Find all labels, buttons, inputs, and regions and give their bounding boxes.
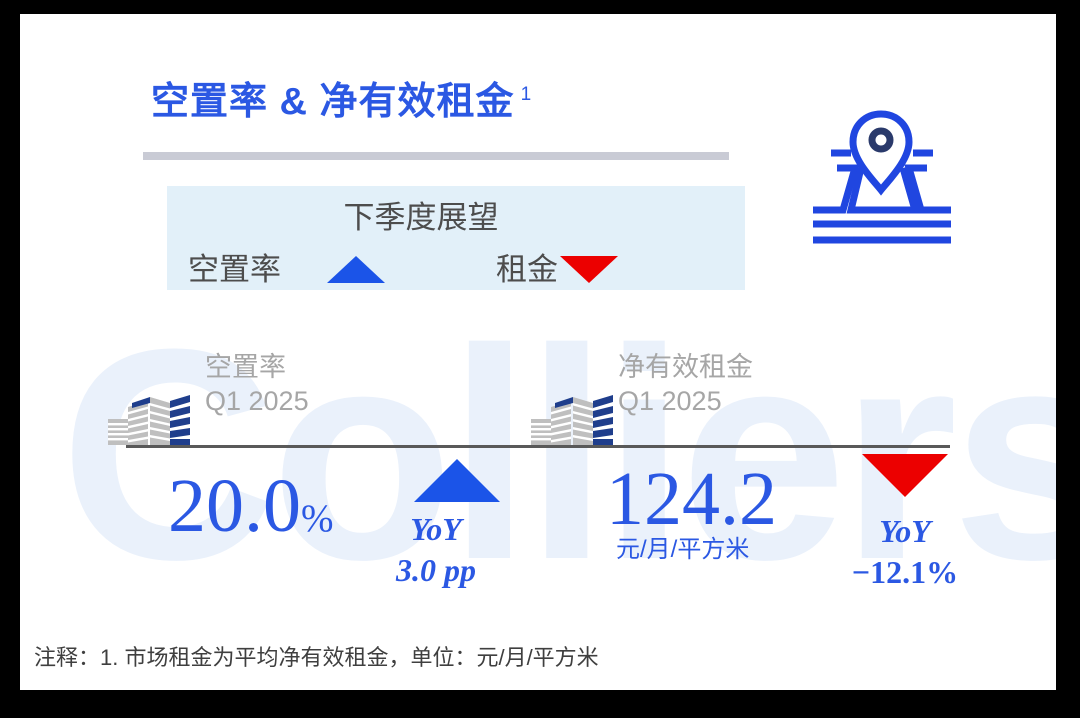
page-title: 空置率 & 净有效租金1 — [151, 70, 532, 125]
metric-change-rent: YoY −12.1% — [840, 511, 970, 593]
metric-value-number: 20.0 — [168, 464, 301, 548]
building-icon — [529, 383, 615, 447]
metric-change-label: YoY — [377, 509, 495, 550]
metric-caption-vacancy: 空置率 Q1 2025 — [205, 350, 309, 418]
outlook-item-label-rent: 租金 — [496, 244, 558, 289]
footnote: 注释：1. 市场租金为平均净有效租金，单位：元/月/平方米 — [34, 640, 599, 672]
metric-unit-rent: 元/月/平方米 — [616, 529, 749, 564]
triangle-up-icon — [327, 256, 385, 283]
metric-caption-line1: 净有效租金 — [618, 350, 753, 384]
page-title-footnote-marker: 1 — [521, 84, 533, 105]
title-divider — [143, 152, 729, 160]
metric-change-value: 3.0 pp — [377, 550, 495, 591]
building-icon — [106, 383, 192, 447]
metric-value-percent-sign: % — [301, 497, 334, 540]
outlook-items-row: 空置率 租金 — [167, 242, 745, 290]
metric-caption-line1: 空置率 — [205, 350, 309, 384]
metric-change-vacancy: YoY 3.0 pp — [377, 509, 495, 591]
page-title-text: 空置率 & 净有效租金 — [151, 81, 515, 123]
triangle-down-icon — [560, 256, 618, 283]
metric-caption-rent: 净有效租金 Q1 2025 — [618, 350, 753, 418]
metric-value-vacancy: 20.0% — [168, 466, 334, 559]
map-pin-icon — [803, 106, 963, 258]
triangle-up-icon — [414, 459, 500, 502]
metric-value-rent: 124.2 — [606, 459, 777, 539]
outlook-heading: 下季度展望 — [167, 192, 745, 237]
outlook-item-label-vacancy: 空置率 — [188, 244, 281, 289]
triangle-down-icon — [862, 454, 948, 497]
metric-change-label: YoY — [840, 511, 970, 552]
metric-caption-line2: Q1 2025 — [618, 384, 753, 418]
metric-change-value: −12.1% — [840, 552, 970, 593]
infographic-card: Colliers 空置率 & 净有效租金1 下季度展望 空置率 租金 — [20, 14, 1056, 690]
metric-caption-line2: Q1 2025 — [205, 384, 309, 418]
